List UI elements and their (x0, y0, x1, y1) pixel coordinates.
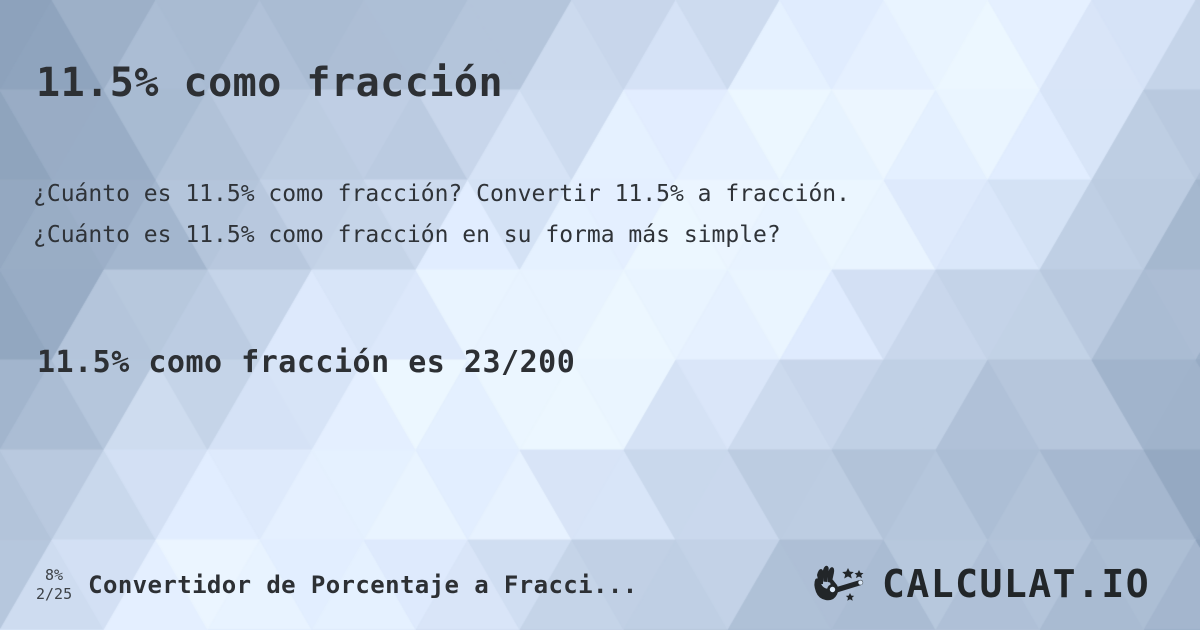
hand-magic-wand-icon (812, 565, 876, 605)
footer: 8% 2/25 Convertidor de Porcentaje a Frac… (0, 540, 1200, 630)
conversion-badge: 8% 2/25 (36, 566, 72, 604)
intro-line-1: ¿Cuánto es 11.5% como fracción? Converti… (33, 174, 850, 215)
logo-wordmark: CALCULAT.IO (882, 565, 1174, 605)
intro-line-2: ¿Cuánto es 11.5% como fracción en su for… (33, 215, 850, 256)
svg-text:CALCULAT.IO: CALCULAT.IO (882, 565, 1150, 605)
badge-percent: 8% (36, 566, 72, 585)
page-title: 11.5% como fracción (36, 60, 503, 106)
answer-statement: 11.5% como fracción es 23/200 (37, 345, 575, 380)
intro-paragraph: ¿Cuánto es 11.5% como fracción? Converti… (33, 174, 850, 256)
footer-tool-name: Convertidor de Porcentaje a Fracci... (88, 571, 812, 599)
site-logo[interactable]: CALCULAT.IO (812, 565, 1174, 605)
page-root: 11.5% como fracción ¿Cuánto es 11.5% com… (0, 0, 1200, 630)
badge-fraction: 2/25 (36, 585, 72, 604)
